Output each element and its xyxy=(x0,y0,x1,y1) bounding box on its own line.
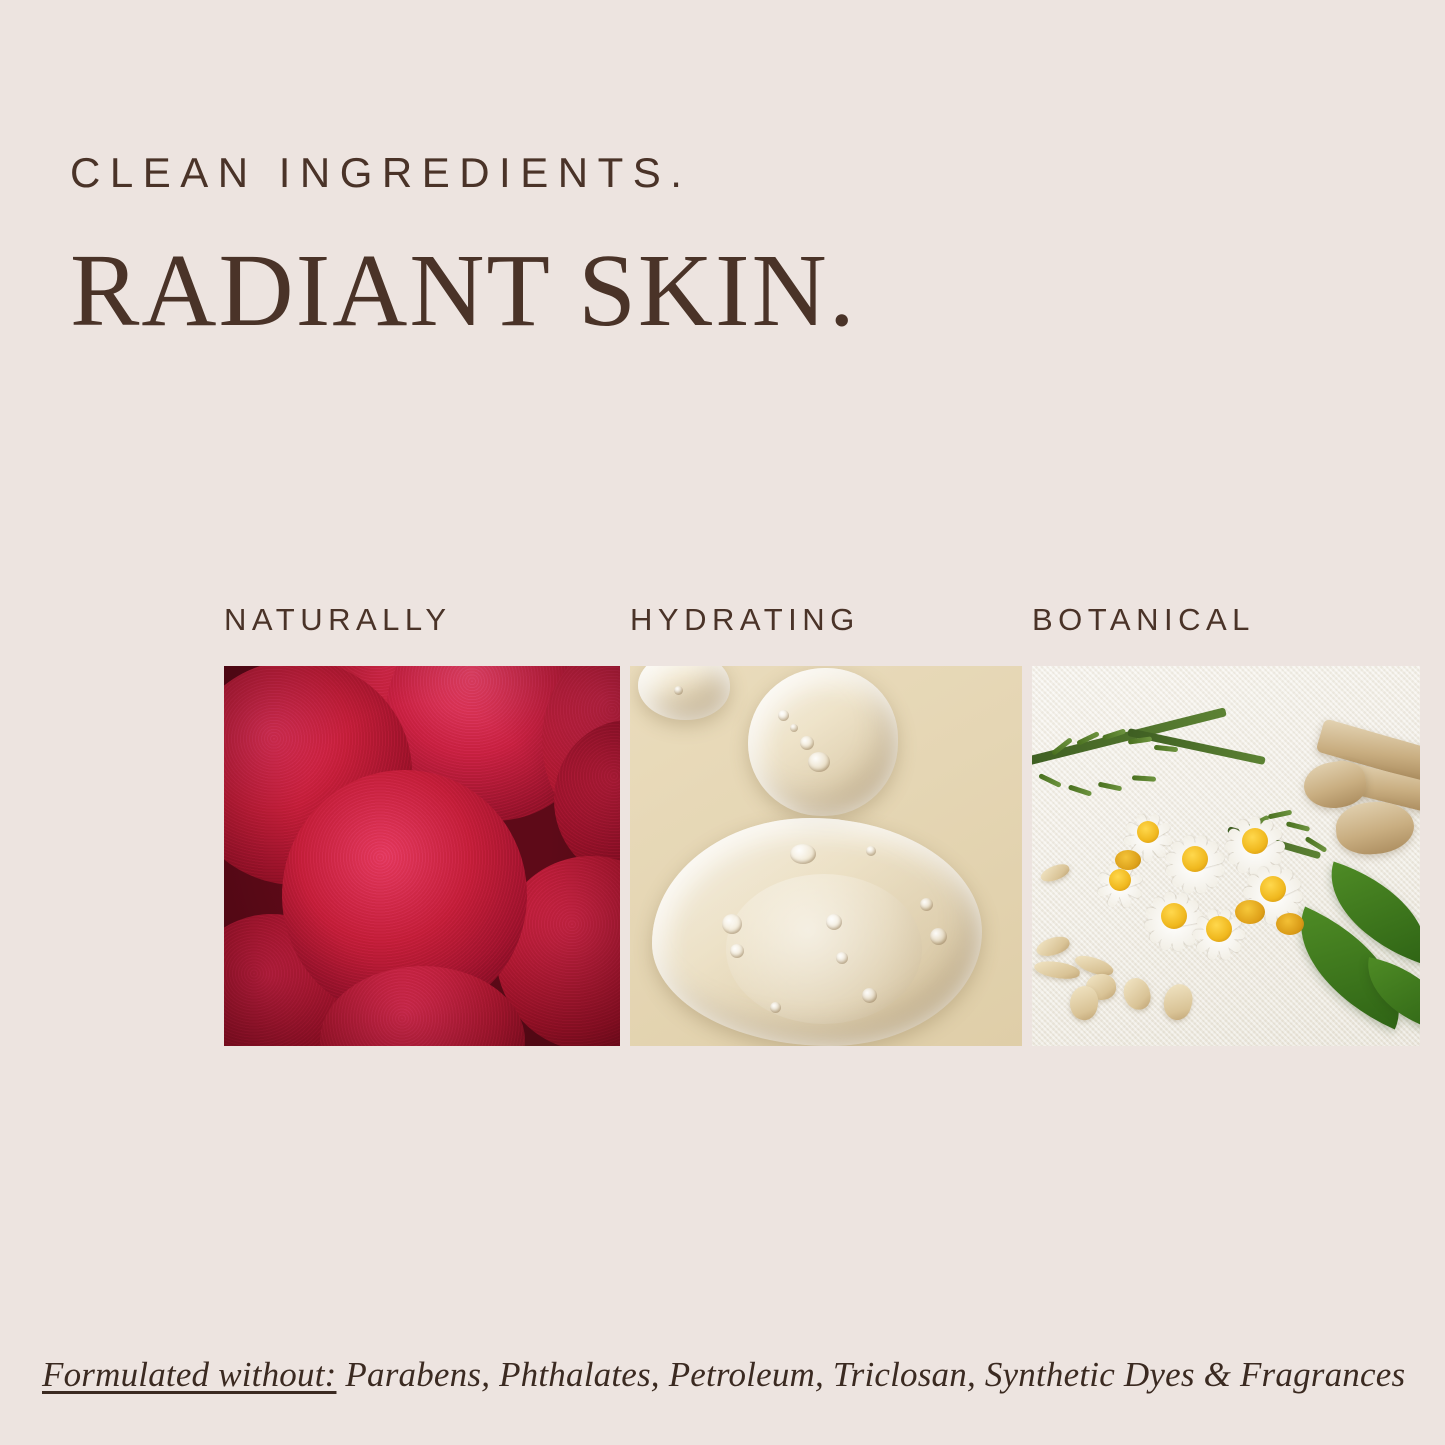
gel-bubble xyxy=(836,952,848,964)
gel-droplet xyxy=(748,668,898,816)
ingredient-columns: NATURALLY DERIVED DHA HYDRATING GLYCERIN xyxy=(224,562,1420,1046)
gel-bubble xyxy=(862,988,877,1003)
botanical-extracts-image xyxy=(1032,666,1420,1046)
glycerin-gel-image xyxy=(630,666,1022,1046)
gel-bubble xyxy=(866,846,876,856)
gel-bubble xyxy=(778,710,789,721)
ingredient-label-botanical: BOTANICAL EXTRACTS xyxy=(1032,562,1420,666)
flower-center xyxy=(1161,903,1187,929)
flower-center xyxy=(1206,916,1232,942)
ingredient-column-botanical: BOTANICAL EXTRACTS xyxy=(1032,562,1420,1046)
ingredient-column-glycerin: HYDRATING GLYCERIN xyxy=(630,562,1022,1046)
gel-bubble xyxy=(790,844,816,864)
ingredient-label-dha: NATURALLY DERIVED DHA xyxy=(224,562,620,666)
gel-highlight xyxy=(726,874,922,1024)
gel-bubble xyxy=(730,944,744,958)
chamomile-bud xyxy=(1110,842,1146,878)
page-title: RADIANT SKIN. xyxy=(70,239,857,343)
beet-slices-image xyxy=(224,666,620,1046)
gel-bubble xyxy=(920,898,933,911)
flower-center xyxy=(1115,850,1141,870)
gel-bubble xyxy=(930,928,947,945)
gel-bubble xyxy=(674,686,683,695)
formulated-without-list: Parabens, Phthalates, Petroleum, Triclos… xyxy=(336,1355,1405,1394)
gel-bubble xyxy=(808,752,830,772)
gel-bubble xyxy=(800,736,814,750)
ingredient-label-glycerin: HYDRATING GLYCERIN xyxy=(630,562,1022,666)
formulated-without-prefix: Formulated without: xyxy=(42,1355,336,1394)
headline-block: CLEAN INGREDIENTS. RADIANT SKIN. xyxy=(70,152,857,343)
gel-bubble xyxy=(826,914,842,930)
flower-center xyxy=(1276,913,1304,935)
flower-center xyxy=(1235,900,1265,924)
ingredient-column-dha: NATURALLY DERIVED DHA xyxy=(224,562,620,1046)
chamomile-bud xyxy=(1230,892,1270,932)
formulated-without-disclaimer: Formulated without: Parabens, Phthalates… xyxy=(42,1355,1405,1395)
chamomile-bud xyxy=(1270,904,1310,944)
ingredients-marketing-panel: CLEAN INGREDIENTS. RADIANT SKIN. NATURAL… xyxy=(0,0,1445,1445)
gel-bubble xyxy=(790,724,798,732)
gel-bubble xyxy=(770,1002,781,1013)
flower-center xyxy=(1182,846,1208,872)
ingredient-label-botanical-line1: BOTANICAL xyxy=(1032,602,1255,637)
headline-eyebrow: CLEAN INGREDIENTS. xyxy=(70,152,857,194)
ingredient-label-glycerin-line1: HYDRATING xyxy=(630,602,860,637)
ingredient-label-dha-line1: NATURALLY xyxy=(224,602,452,637)
flower-center xyxy=(1242,828,1268,854)
gel-droplet xyxy=(638,666,730,720)
gel-bubble xyxy=(722,914,742,934)
flower-center xyxy=(1137,821,1159,843)
